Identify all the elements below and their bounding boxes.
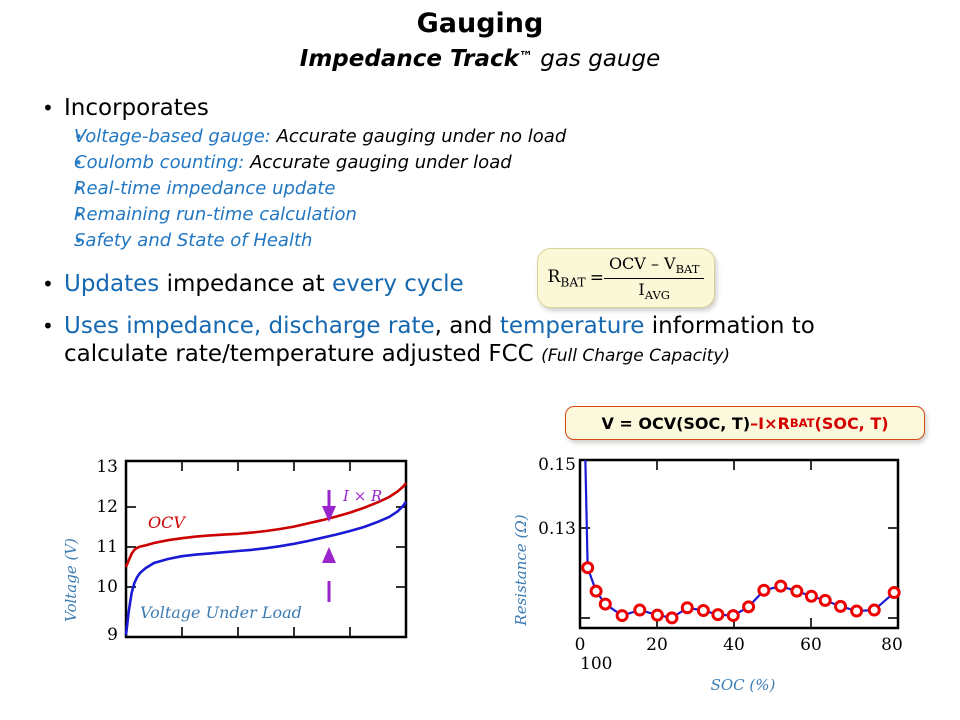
resistance-xtick-20: 20 — [646, 635, 668, 655]
resistance-data-point — [889, 588, 899, 598]
banner-minus: – — [750, 414, 758, 433]
uses-line2: calculate rate/temperature adjusted FCC — [64, 341, 541, 367]
subtitle-product-name: Impedance Track — [300, 46, 519, 72]
resistance-data-point — [820, 595, 830, 605]
title-block: Gauging Impedance Track™ gas gauge — [0, 8, 960, 74]
sub-bullet-lead: Safety and State of Health — [74, 230, 312, 251]
voltage-y-axis-label: Voltage (V) — [62, 538, 80, 622]
uses-tail: information to — [644, 313, 814, 339]
formula-expression: RBAT = OCV – VBAT IAVG — [548, 254, 705, 301]
voltage-chart: Voltage (V) 13 12 11 10 9 — [60, 450, 470, 665]
bullet-marker-icon: • — [38, 124, 74, 150]
equation-banner: V = OCV(SOC, T) – I × RBAT (SOC, T) — [565, 406, 925, 440]
formula-num-v-subscript: BAT — [676, 263, 700, 277]
resistance-xtick-40: 40 — [723, 635, 745, 655]
bullet-marker-icon: • — [38, 150, 74, 176]
updates-keyword: Updates — [64, 271, 159, 297]
formula-box-rbat: RBAT = OCV – VBAT IAVG — [537, 248, 715, 308]
resistance-x-axis-label: SOC (%) — [711, 676, 776, 694]
sub-bullet-item: • Safety and State of Health — [38, 228, 928, 254]
updates-middle: impedance at — [159, 271, 332, 297]
sub-bullet-text: Remaining run-time calculation — [74, 202, 928, 228]
resistance-data-point — [776, 581, 786, 591]
formula-num-v: V — [664, 254, 676, 273]
formula-fraction: OCV – VBAT IAVG — [604, 254, 705, 301]
bullet-updates-impedance: • Updates impedance at every cycle — [38, 270, 928, 298]
resistance-data-point — [713, 610, 723, 620]
bullet-marker-icon: • — [38, 312, 64, 340]
sub-bullet-text: Safety and State of Health — [74, 228, 928, 254]
banner-args: (SOC, T) — [815, 414, 889, 433]
bullet-marker-icon: • — [38, 228, 74, 254]
bullet-list: • Incorporates • Voltage-based gauge: Ac… — [38, 94, 928, 372]
bullet-updates-text: Updates impedance at every cycle — [64, 270, 928, 298]
formula-den-subscript: AVG — [645, 288, 670, 302]
formula-equals: = — [590, 268, 604, 288]
every-cycle-keyword: every cycle — [332, 271, 464, 297]
i-times-r-label: I × R — [342, 487, 382, 505]
resistance-ytick-015: 0.15 — [538, 455, 576, 475]
sub-bullet-lead: Voltage-based gauge: — [74, 126, 271, 147]
voltage-ytick-13: 13 — [96, 457, 118, 477]
resistance-xtick-80: 80 — [881, 635, 903, 655]
sub-bullet-list: • Voltage-based gauge: Accurate gauging … — [38, 124, 928, 254]
sub-bullet-item: • Coulomb counting: Accurate gauging und… — [38, 150, 928, 176]
resistance-data-point — [652, 610, 662, 620]
formula-num-minus: – — [646, 254, 664, 273]
sub-bullet-rest: Accurate gauging under no load — [271, 126, 566, 147]
bullet-marker-icon: • — [38, 94, 64, 122]
resistance-xtick-60: 60 — [800, 635, 822, 655]
bullet-incorporates: • Incorporates — [38, 94, 928, 122]
resistance-xtick-100: 100 — [580, 654, 612, 674]
ocv-label: OCV — [148, 513, 186, 532]
resistance-xtick-0: 0 — [575, 635, 586, 655]
voltage-ytick-9: 9 — [107, 625, 118, 645]
uses-keyword-1: Uses impedance, discharge rate — [64, 313, 435, 339]
voltage-ytick-12: 12 — [96, 497, 118, 517]
bullet-incorporates-label: Incorporates — [64, 94, 928, 122]
sub-bullet-text: Voltage-based gauge: Accurate gauging un… — [74, 124, 928, 150]
bullet-marker-icon: • — [38, 270, 64, 298]
resistance-data-point — [806, 591, 816, 601]
sub-bullet-item: • Real-time impedance update — [38, 176, 928, 202]
resistance-data-point — [852, 606, 862, 616]
sub-bullet-item: • Remaining run-time calculation — [38, 202, 928, 228]
voltage-under-load-label: Voltage Under Load — [140, 603, 302, 622]
voltage-ytick-11: 11 — [96, 537, 118, 557]
sub-bullet-item: • Voltage-based gauge: Accurate gauging … — [38, 124, 928, 150]
formula-lhs: RBAT — [548, 267, 586, 289]
sub-bullet-text: Real-time impedance update — [74, 176, 928, 202]
trademark-symbol: ™ — [519, 49, 533, 65]
resistance-data-point — [667, 613, 677, 623]
voltage-ytick-10: 10 — [96, 577, 118, 597]
bullet-marker-icon: • — [38, 176, 74, 202]
sub-bullet-rest: Accurate gauging under load — [244, 152, 511, 173]
resistance-data-point — [591, 586, 601, 596]
bullet-uses-text: Uses impedance, discharge rate, and temp… — [64, 312, 928, 370]
uses-parenthetical: (Full Charge Capacity) — [541, 346, 730, 366]
page-title: Gauging — [0, 8, 960, 40]
bullet-uses-impedance: • Uses impedance, discharge rate, and te… — [38, 312, 928, 370]
uses-middle: , and — [435, 313, 500, 339]
resistance-data-point — [869, 605, 879, 615]
resistance-data-point — [698, 606, 708, 616]
banner-black-part: V = OCV(SOC, T) — [601, 414, 750, 433]
formula-num-ocv: OCV — [609, 254, 646, 273]
bullet-marker-icon: • — [38, 202, 74, 228]
sub-bullet-text: Coulomb counting: Accurate gauging under… — [74, 150, 928, 176]
resistance-data-point — [836, 601, 846, 611]
resistance-data-point — [744, 602, 754, 612]
resistance-ytick-013: 0.13 — [538, 519, 576, 539]
sub-bullet-lead: Coulomb counting: — [74, 152, 244, 173]
voltage-chart-svg: Voltage (V) 13 12 11 10 9 — [60, 450, 470, 665]
resistance-data-point — [635, 605, 645, 615]
subtitle-suffix: gas gauge — [533, 46, 660, 72]
resistance-y-axis-label: Resistance (Ω) — [512, 514, 530, 626]
resistance-plot-frame — [580, 460, 898, 628]
resistance-chart-svg: Resistance (Ω) 0.15 0.13 0 20 40 60 80 1… — [508, 450, 938, 700]
resistance-data-point — [792, 586, 802, 596]
resistance-data-point — [583, 563, 593, 573]
resistance-chart: Resistance (Ω) 0.15 0.13 0 20 40 60 80 1… — [508, 450, 938, 700]
banner-times-icon: × — [764, 414, 777, 433]
temperature-keyword: temperature — [500, 313, 645, 339]
sub-bullet-lead: Real-time impedance update — [74, 178, 336, 199]
page-subtitle: Impedance Track™ gas gauge — [0, 42, 960, 74]
banner-resistance-symbol: R — [778, 414, 790, 433]
resistance-data-point — [600, 599, 610, 609]
resistance-data-point — [617, 611, 627, 621]
sub-bullet-lead: Remaining run-time calculation — [74, 204, 357, 225]
resistance-data-point — [682, 603, 692, 613]
resistance-data-point — [759, 585, 769, 595]
formula-lhs-symbol: R — [548, 267, 561, 287]
banner-resistance-subscript: BAT — [790, 416, 815, 430]
formula-denominator: IAVG — [604, 278, 705, 302]
formula-lhs-subscript: BAT — [560, 275, 585, 289]
formula-numerator: OCV – VBAT — [604, 254, 705, 277]
resistance-data-point — [728, 611, 738, 621]
